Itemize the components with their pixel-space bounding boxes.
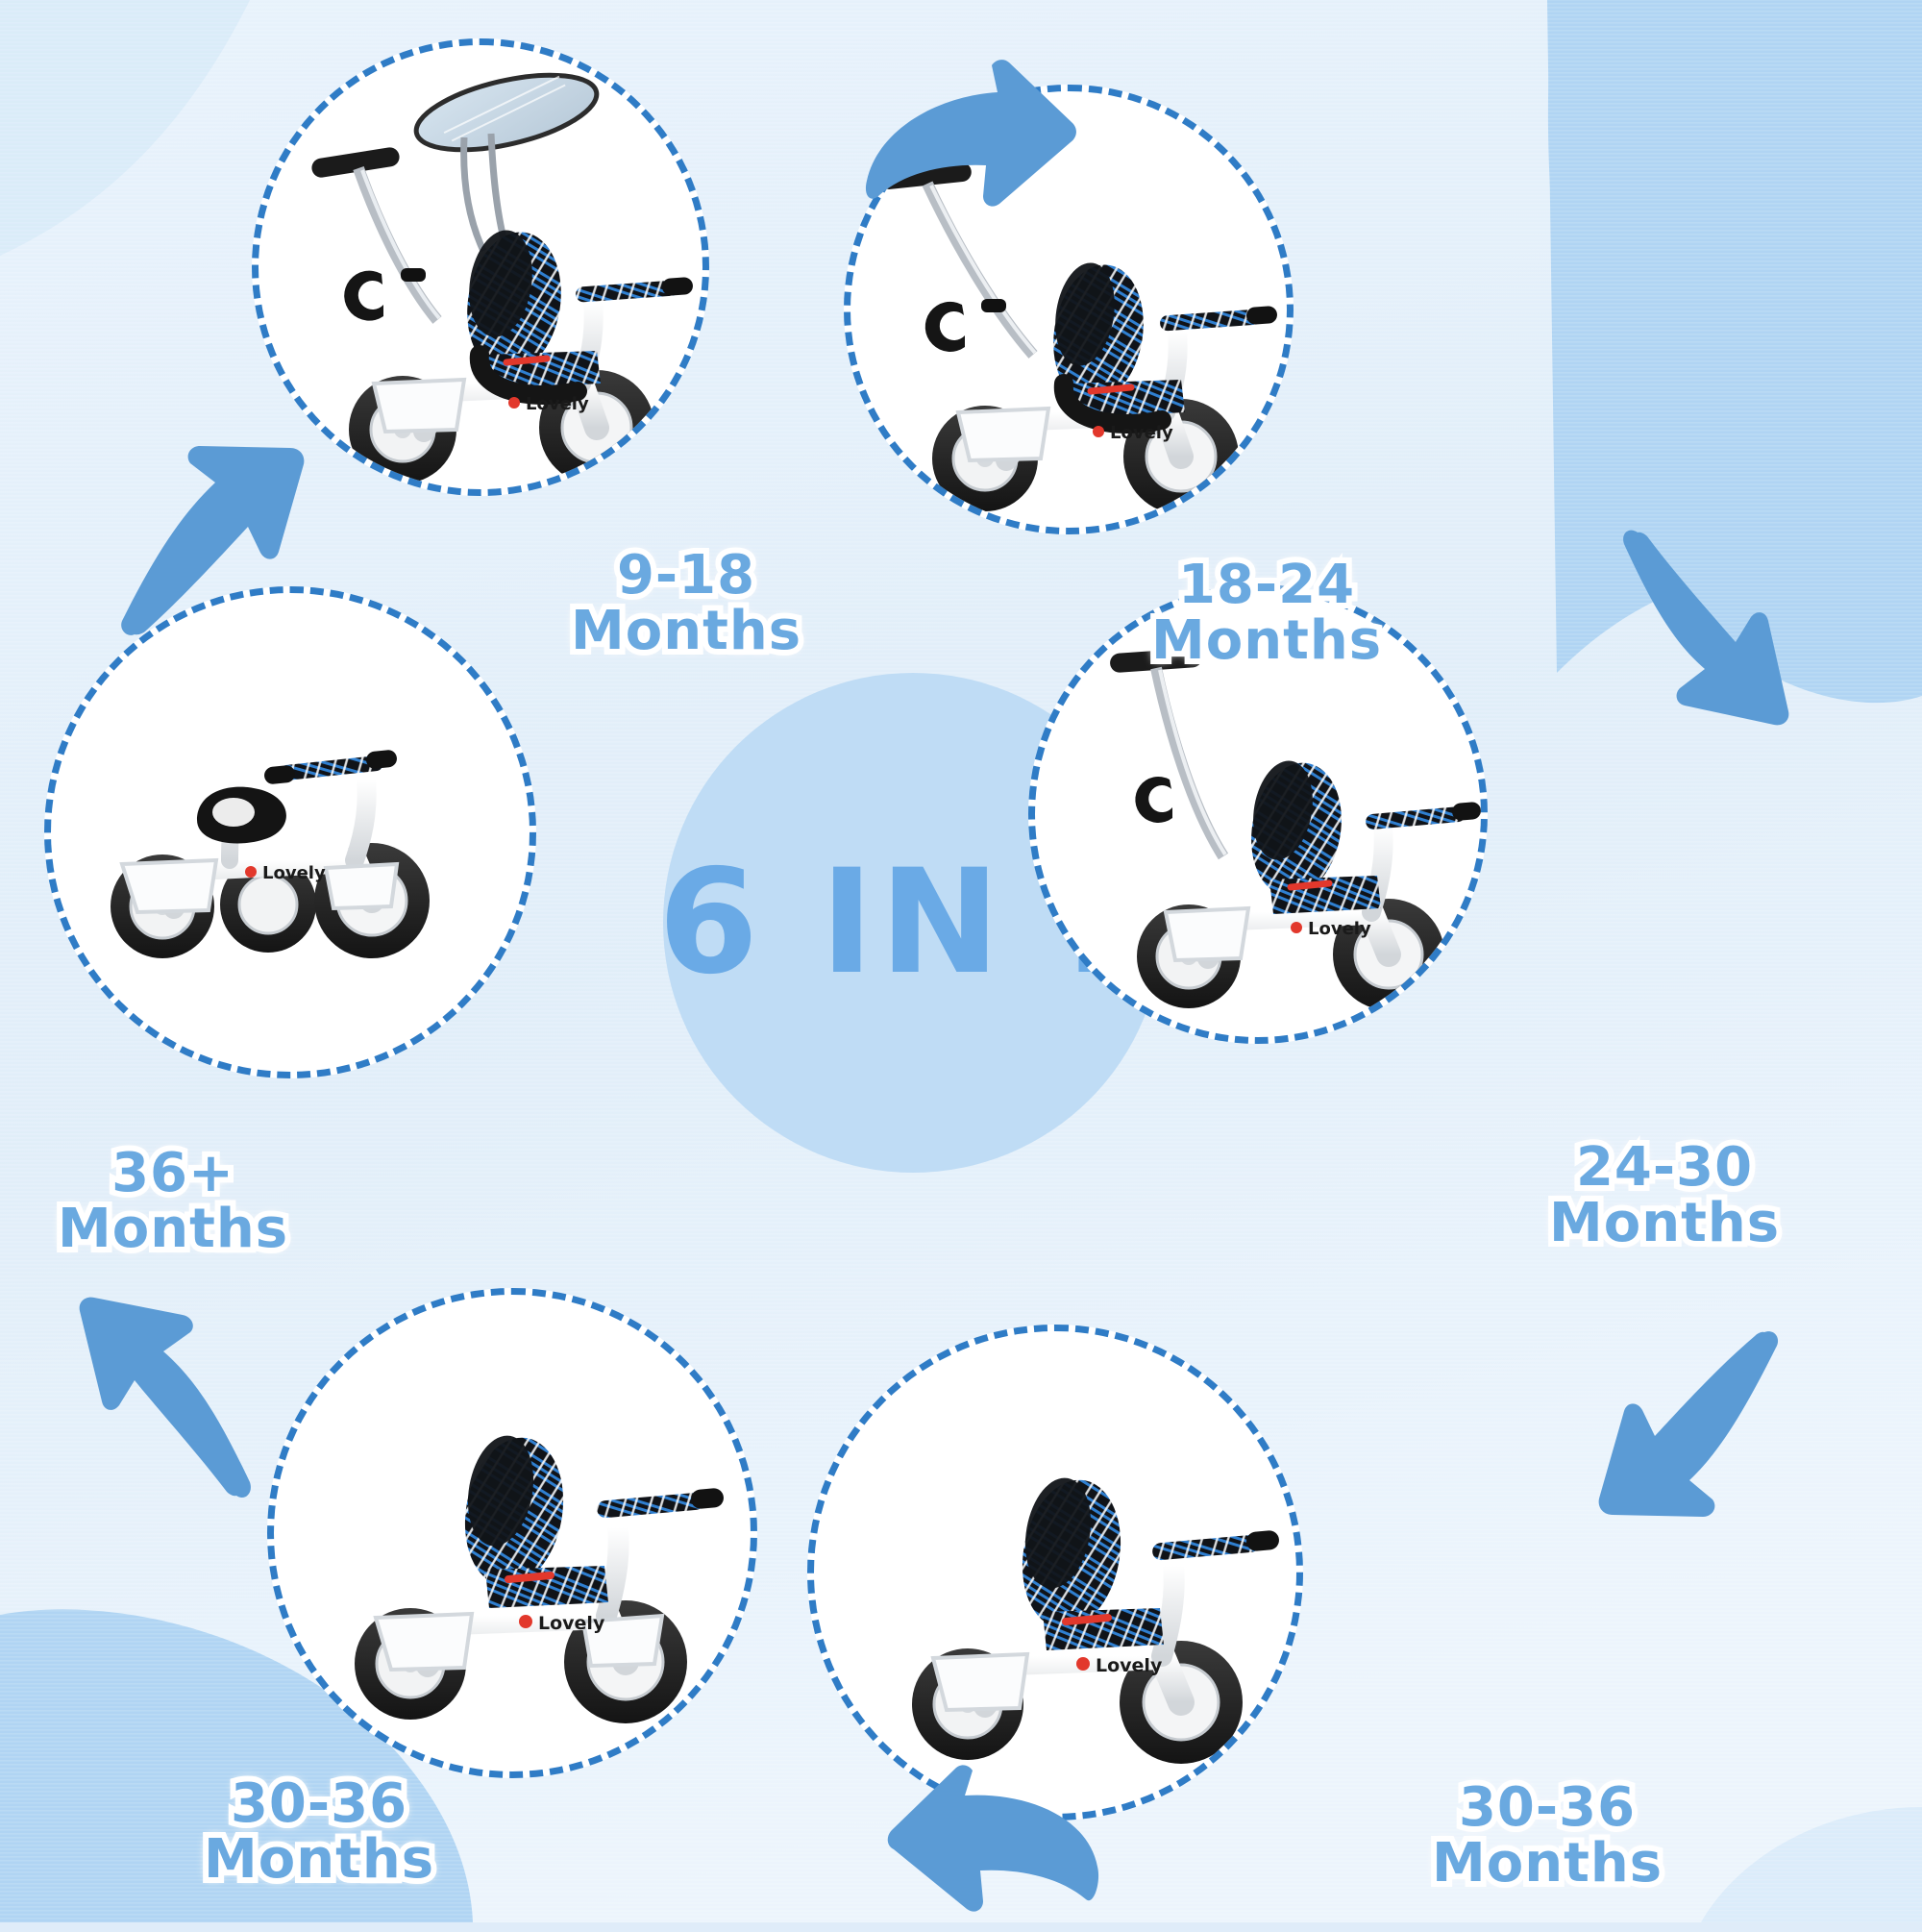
handlebar — [1151, 1530, 1279, 1561]
svg-text:Lovely: Lovely — [1096, 1655, 1163, 1676]
stage-circle-bottom-left[interactable]: Lovely — [267, 1288, 757, 1778]
canopy — [409, 61, 604, 163]
classic-tricycle-illustration: Lovely — [51, 593, 530, 1072]
arrow-stage4-to-stage5 — [836, 1778, 1124, 1932]
age-label-stage-5: 30-36 Months — [204, 1776, 434, 1888]
tricycle-learn-to-ride-illustration: Lovely — [814, 1331, 1296, 1814]
arrow-stage1-to-stage2 — [846, 58, 1096, 221]
svg-text:Lovely: Lovely — [526, 394, 589, 414]
age-label-stage-2: 18-24 Months — [1151, 557, 1382, 669]
arrow-stage6-to-stage1 — [106, 423, 327, 644]
storage-basket — [376, 1614, 472, 1670]
handlebar — [576, 277, 694, 303]
stage-image-middle-left: Lovely — [51, 593, 530, 1072]
stage-image-bottom-right: Lovely — [814, 1331, 1296, 1814]
handlebar — [1366, 802, 1481, 830]
storage-basket — [958, 409, 1048, 460]
age-label-stage-4: 30-36 Months — [1432, 1780, 1663, 1892]
push-handle — [1109, 648, 1225, 856]
storage-basket — [122, 860, 216, 912]
handlebar — [1160, 306, 1278, 332]
age-label-stage-3: 24-30 Months — [1549, 1140, 1780, 1251]
svg-text:Lovely: Lovely — [1110, 423, 1173, 443]
push-handle — [310, 146, 439, 321]
age-label-stage-6: 36+ Months — [58, 1146, 288, 1257]
storage-basket — [1166, 908, 1248, 960]
storage-basket — [933, 1654, 1027, 1710]
stage-image-bottom-left: Lovely — [274, 1295, 751, 1771]
arrow-stage5-to-stage6 — [67, 1288, 279, 1509]
svg-text:Lovely: Lovely — [538, 1613, 605, 1634]
child-seat — [1011, 1473, 1164, 1650]
svg-text:Lovely: Lovely — [1308, 919, 1371, 939]
arrow-stage3-to-stage4 — [1576, 1317, 1797, 1538]
stage-circle-middle-left[interactable]: Lovely — [44, 586, 536, 1078]
arrow-stage2-to-stage3 — [1605, 519, 1826, 740]
handlebar — [596, 1488, 724, 1519]
tricycle-backrest-illustration: Lovely — [274, 1295, 751, 1771]
storage-basket — [374, 380, 464, 432]
stage-circle-bottom-right[interactable]: Lovely — [807, 1325, 1303, 1821]
child-seat — [1242, 755, 1381, 914]
svg-text:Lovely: Lovely — [262, 863, 326, 883]
age-label-stage-1: 9-18 Months — [571, 548, 801, 659]
saddle-seat — [197, 787, 286, 844]
handlebar — [263, 749, 398, 784]
front-tray — [326, 864, 397, 908]
child-seat — [454, 1430, 608, 1608]
